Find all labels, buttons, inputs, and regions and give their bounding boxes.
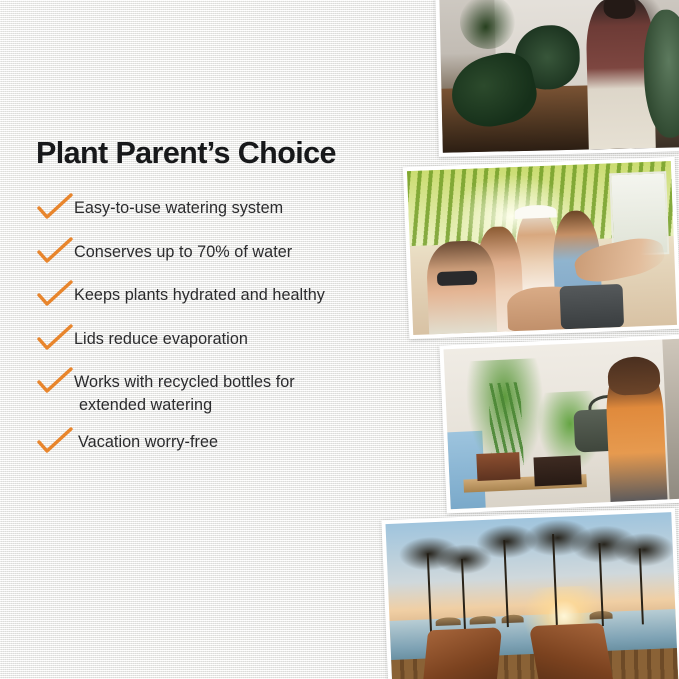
list-item: Conserves up to 70% of water xyxy=(36,240,430,270)
check-icon xyxy=(36,324,74,352)
list-item: Lids reduce evaporation xyxy=(36,327,430,357)
list-item: Works with recycled bottles for extended… xyxy=(36,370,430,416)
check-icon xyxy=(36,367,74,395)
list-item-label: Conserves up to 70% of water xyxy=(74,240,292,264)
photo-beach-sunset xyxy=(381,508,679,679)
photo-friends-selfie xyxy=(403,157,679,339)
photo-child-watering xyxy=(439,335,679,514)
check-icon xyxy=(36,427,74,455)
check-icon xyxy=(36,280,74,308)
benefit-list: Easy-to-use watering system Conserves up… xyxy=(36,196,430,473)
text-column: Plant Parent’s Choice Easy-to-use wateri… xyxy=(0,0,430,679)
check-icon xyxy=(36,237,74,265)
list-item: Vacation worry-free xyxy=(36,430,430,460)
list-item: Easy-to-use watering system xyxy=(36,196,430,226)
list-item-label: Keeps plants hydrated and healthy xyxy=(74,283,325,307)
photo-plants-woman xyxy=(435,0,679,157)
list-item: Keeps plants hydrated and healthy xyxy=(36,283,430,313)
page-title: Plant Parent’s Choice xyxy=(36,136,336,171)
list-item-label: Easy-to-use watering system xyxy=(74,196,283,220)
list-item-label: Vacation worry-free xyxy=(74,430,218,454)
list-item-label-wrapper: Works with recycled bottles for extended… xyxy=(74,370,295,416)
list-item-label: Works with recycled bottles for xyxy=(74,373,295,391)
list-item-label-line2: extended watering xyxy=(74,394,295,417)
list-item-label: Lids reduce evaporation xyxy=(74,327,248,351)
product-feature-poster: Plant Parent’s Choice Easy-to-use wateri… xyxy=(0,0,679,679)
check-icon xyxy=(36,193,74,221)
